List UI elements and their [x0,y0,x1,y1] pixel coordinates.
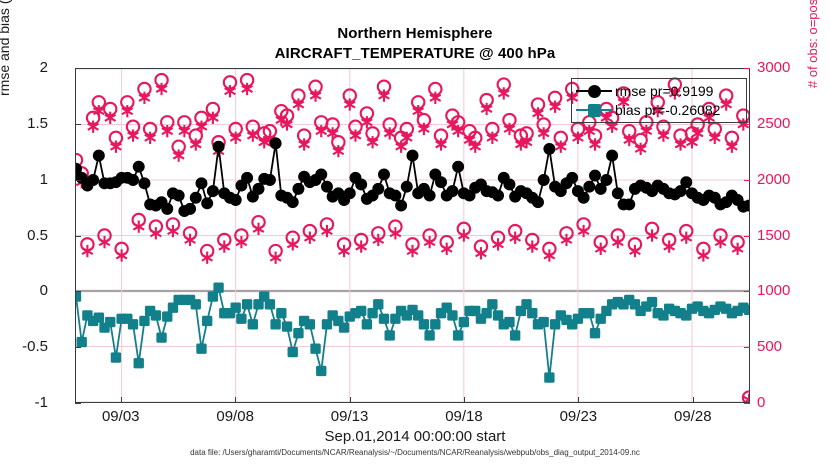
bias-marker [510,330,520,340]
bias-marker [379,314,389,324]
x-axis-label: Sep.01,2014 00:00:00 start [0,428,830,445]
rmse-marker [138,177,150,189]
rmse-marker [395,200,407,212]
rmse-marker [292,183,304,195]
x-axis-tick-mark [464,397,465,403]
bias-marker [647,297,657,307]
y-axis-left-tick-label: 1 [0,171,48,188]
y-axis-right-tick-mark [744,124,750,125]
x-axis-tick-label: 09/23 [538,408,618,425]
bias-marker [316,366,326,376]
x-axis-tick-label: 09/28 [653,408,733,425]
bias-marker [191,299,201,309]
rmse-marker [623,198,635,210]
rmse-marker [264,174,276,186]
y-axis-right-tick-label: 500 [757,338,817,355]
rmse-marker [389,190,401,202]
legend-label-bias: bias pr=-0.26082 [615,102,720,118]
bias-marker [744,305,749,315]
bias-marker [584,308,594,318]
data-file-footer: data file: /Users/gharamti/Documents/NCA… [0,448,830,457]
x-axis-tick-label: 09/13 [310,408,390,425]
rmse-marker [600,174,612,186]
y-axis-left-tick-mark [75,403,81,404]
bias-marker [213,283,223,293]
bias-marker [231,302,241,312]
bias-marker [270,319,280,329]
x-axis-tick-mark [350,397,351,403]
x-axis-tick-label: 09/03 [81,408,161,425]
y-axis-right-tick-mark [744,291,750,292]
legend-item-bias[interactable]: bias pr=-0.26082 [576,100,742,119]
rmse-marker [583,181,595,193]
bias-marker [111,352,121,362]
rmse-marker [532,196,544,208]
rmse-marker [184,203,196,215]
rmse-marker [355,178,367,190]
bias-marker [385,330,395,340]
bias-marker [305,319,315,329]
rmse-marker [401,181,413,193]
chart-title-block: Northern Hemisphere AIRCRAFT_TEMPERATURE… [0,24,830,64]
rmse-marker [492,190,504,202]
chart-legend[interactable]: rmse pr=0.9199 bias pr=-0.26082 [571,78,747,123]
rmse-marker [424,190,436,202]
rmse-marker [378,168,390,180]
rmse-marker [253,183,265,195]
rmse-marker [606,150,618,162]
bias-marker [373,299,383,309]
rmse-marker [680,176,692,188]
y-axis-left-tick-mark [75,180,81,181]
bias-marker [521,299,531,309]
y-axis-right-tick-label: 2500 [757,115,817,132]
rmse-marker [87,174,99,186]
y-axis-left-tick-mark [75,291,81,292]
bias-marker [481,308,491,318]
x-axis-tick-label: 09/08 [195,408,275,425]
bias-marker [105,317,115,327]
x-axis-tick-label: 09/18 [424,408,504,425]
rmse-marker [503,178,515,190]
rmse-marker [344,187,356,199]
bias-marker [538,317,548,327]
bias-marker [459,317,469,327]
bias-marker [419,319,429,329]
y-axis-right-tick-mark [744,403,750,404]
bias-marker [413,310,423,320]
bias-marker [453,330,463,340]
bias-marker [293,328,303,338]
rmse-marker [127,174,139,186]
y-axis-left-tick-mark [75,236,81,237]
rmse-marker [315,168,327,180]
bias-marker-icon [576,102,612,118]
bias-marker [504,317,514,327]
rmse-marker [538,174,550,186]
y-axis-right-tick-mark [744,68,750,69]
bias-marker [236,314,246,324]
bias-marker [447,310,457,320]
bias-marker [527,308,537,318]
y-axis-left-tick-mark [75,124,81,125]
rmse-marker [452,161,464,173]
bias-marker [139,316,149,326]
bias-marker [202,316,212,326]
rmse-marker [207,185,219,197]
y-axis-left-tick-label: 0.5 [0,227,48,244]
y-axis-right-tick-label: 1000 [757,282,817,299]
y-axis-right-tick-label: 1500 [757,227,817,244]
rmse-marker [612,187,624,199]
bias-marker [134,358,144,368]
rmse-marker [241,172,253,184]
bias-marker [487,299,497,309]
bias-marker [94,312,104,322]
y-axis-left-tick-label: 0 [0,282,48,299]
rmse-marker [446,185,458,197]
x-axis-tick-mark [693,397,694,403]
bias-marker [162,311,172,321]
rmse-marker [543,143,555,155]
y-axis-right-tick-mark [744,347,750,348]
bias-marker [248,319,258,329]
y-axis-right-tick-label: 0 [757,394,817,411]
bias-marker [430,319,440,329]
rmse-marker [407,150,419,162]
bias-marker [76,291,81,301]
rmse-marker [372,183,384,195]
bias-marker [310,344,320,354]
rmse-marker [230,194,242,206]
y-axis-left-tick-label: -1 [0,394,48,411]
rmse-marker [161,203,173,215]
bias-marker [208,291,218,301]
bias-marker [493,310,503,320]
y-axis-right-tick-label: 3000 [757,59,817,76]
rmse-marker [435,176,447,188]
rmse-marker [270,137,282,149]
rmse-marker [93,150,105,162]
rmse-marker [201,197,213,209]
bias-marker [356,306,366,316]
bias-marker [156,332,166,342]
bias-marker [276,308,286,318]
rmse-marker [173,190,185,202]
bias-marker [77,337,87,347]
legend-item-rmse[interactable]: rmse pr=0.9199 [576,81,742,100]
y-axis-left-tick-label: 2 [0,59,48,76]
legend-label-rmse: rmse pr=0.9199 [615,83,713,99]
rmse-marker [133,161,145,173]
bias-marker [151,310,161,320]
bias-marker [339,322,349,332]
rmse-marker [589,170,601,182]
y-axis-right-tick-mark [744,236,750,237]
bias-marker [544,372,554,382]
x-axis-tick-mark [578,397,579,403]
bias-marker [288,347,298,357]
rmse-marker [195,177,207,189]
rmse-marker [287,196,299,208]
title-line-2: AIRCRAFT_TEMPERATURE @ 400 hPa [0,44,830,64]
title-line-1: Northern Hemisphere [0,24,830,44]
bias-marker [362,319,372,329]
bias-marker [367,308,377,318]
y-axis-right-tick-label: 2000 [757,171,817,188]
bias-marker [282,321,292,331]
bias-marker [550,319,560,329]
rmse-marker [566,172,578,184]
x-axis-tick-mark [235,397,236,403]
y-axis-left-tick-label: -0.5 [0,338,48,355]
y-axis-right-tick-mark [744,180,750,181]
rmse-marker [213,141,225,153]
y-axis-left-tick-label: 1.5 [0,115,48,132]
rmse-marker [578,192,590,204]
rmse-marker-icon [576,83,612,99]
bias-marker [424,330,434,340]
y-axis-left-label: rmse and bias (model - observation) [0,0,12,96]
bias-marker [196,344,206,354]
chart-page: Northern Hemisphere AIRCRAFT_TEMPERATURE… [0,0,830,470]
x-axis-tick-mark [121,397,122,403]
y-axis-left-tick-mark [75,347,81,348]
bias-marker [590,328,600,338]
rmse-marker [321,181,333,193]
bias-marker [322,319,332,329]
bias-marker [265,299,275,309]
bias-marker [242,299,252,309]
rmse-marker [190,192,202,204]
y-axis-left-tick-mark [75,68,81,69]
bias-marker [128,319,138,329]
